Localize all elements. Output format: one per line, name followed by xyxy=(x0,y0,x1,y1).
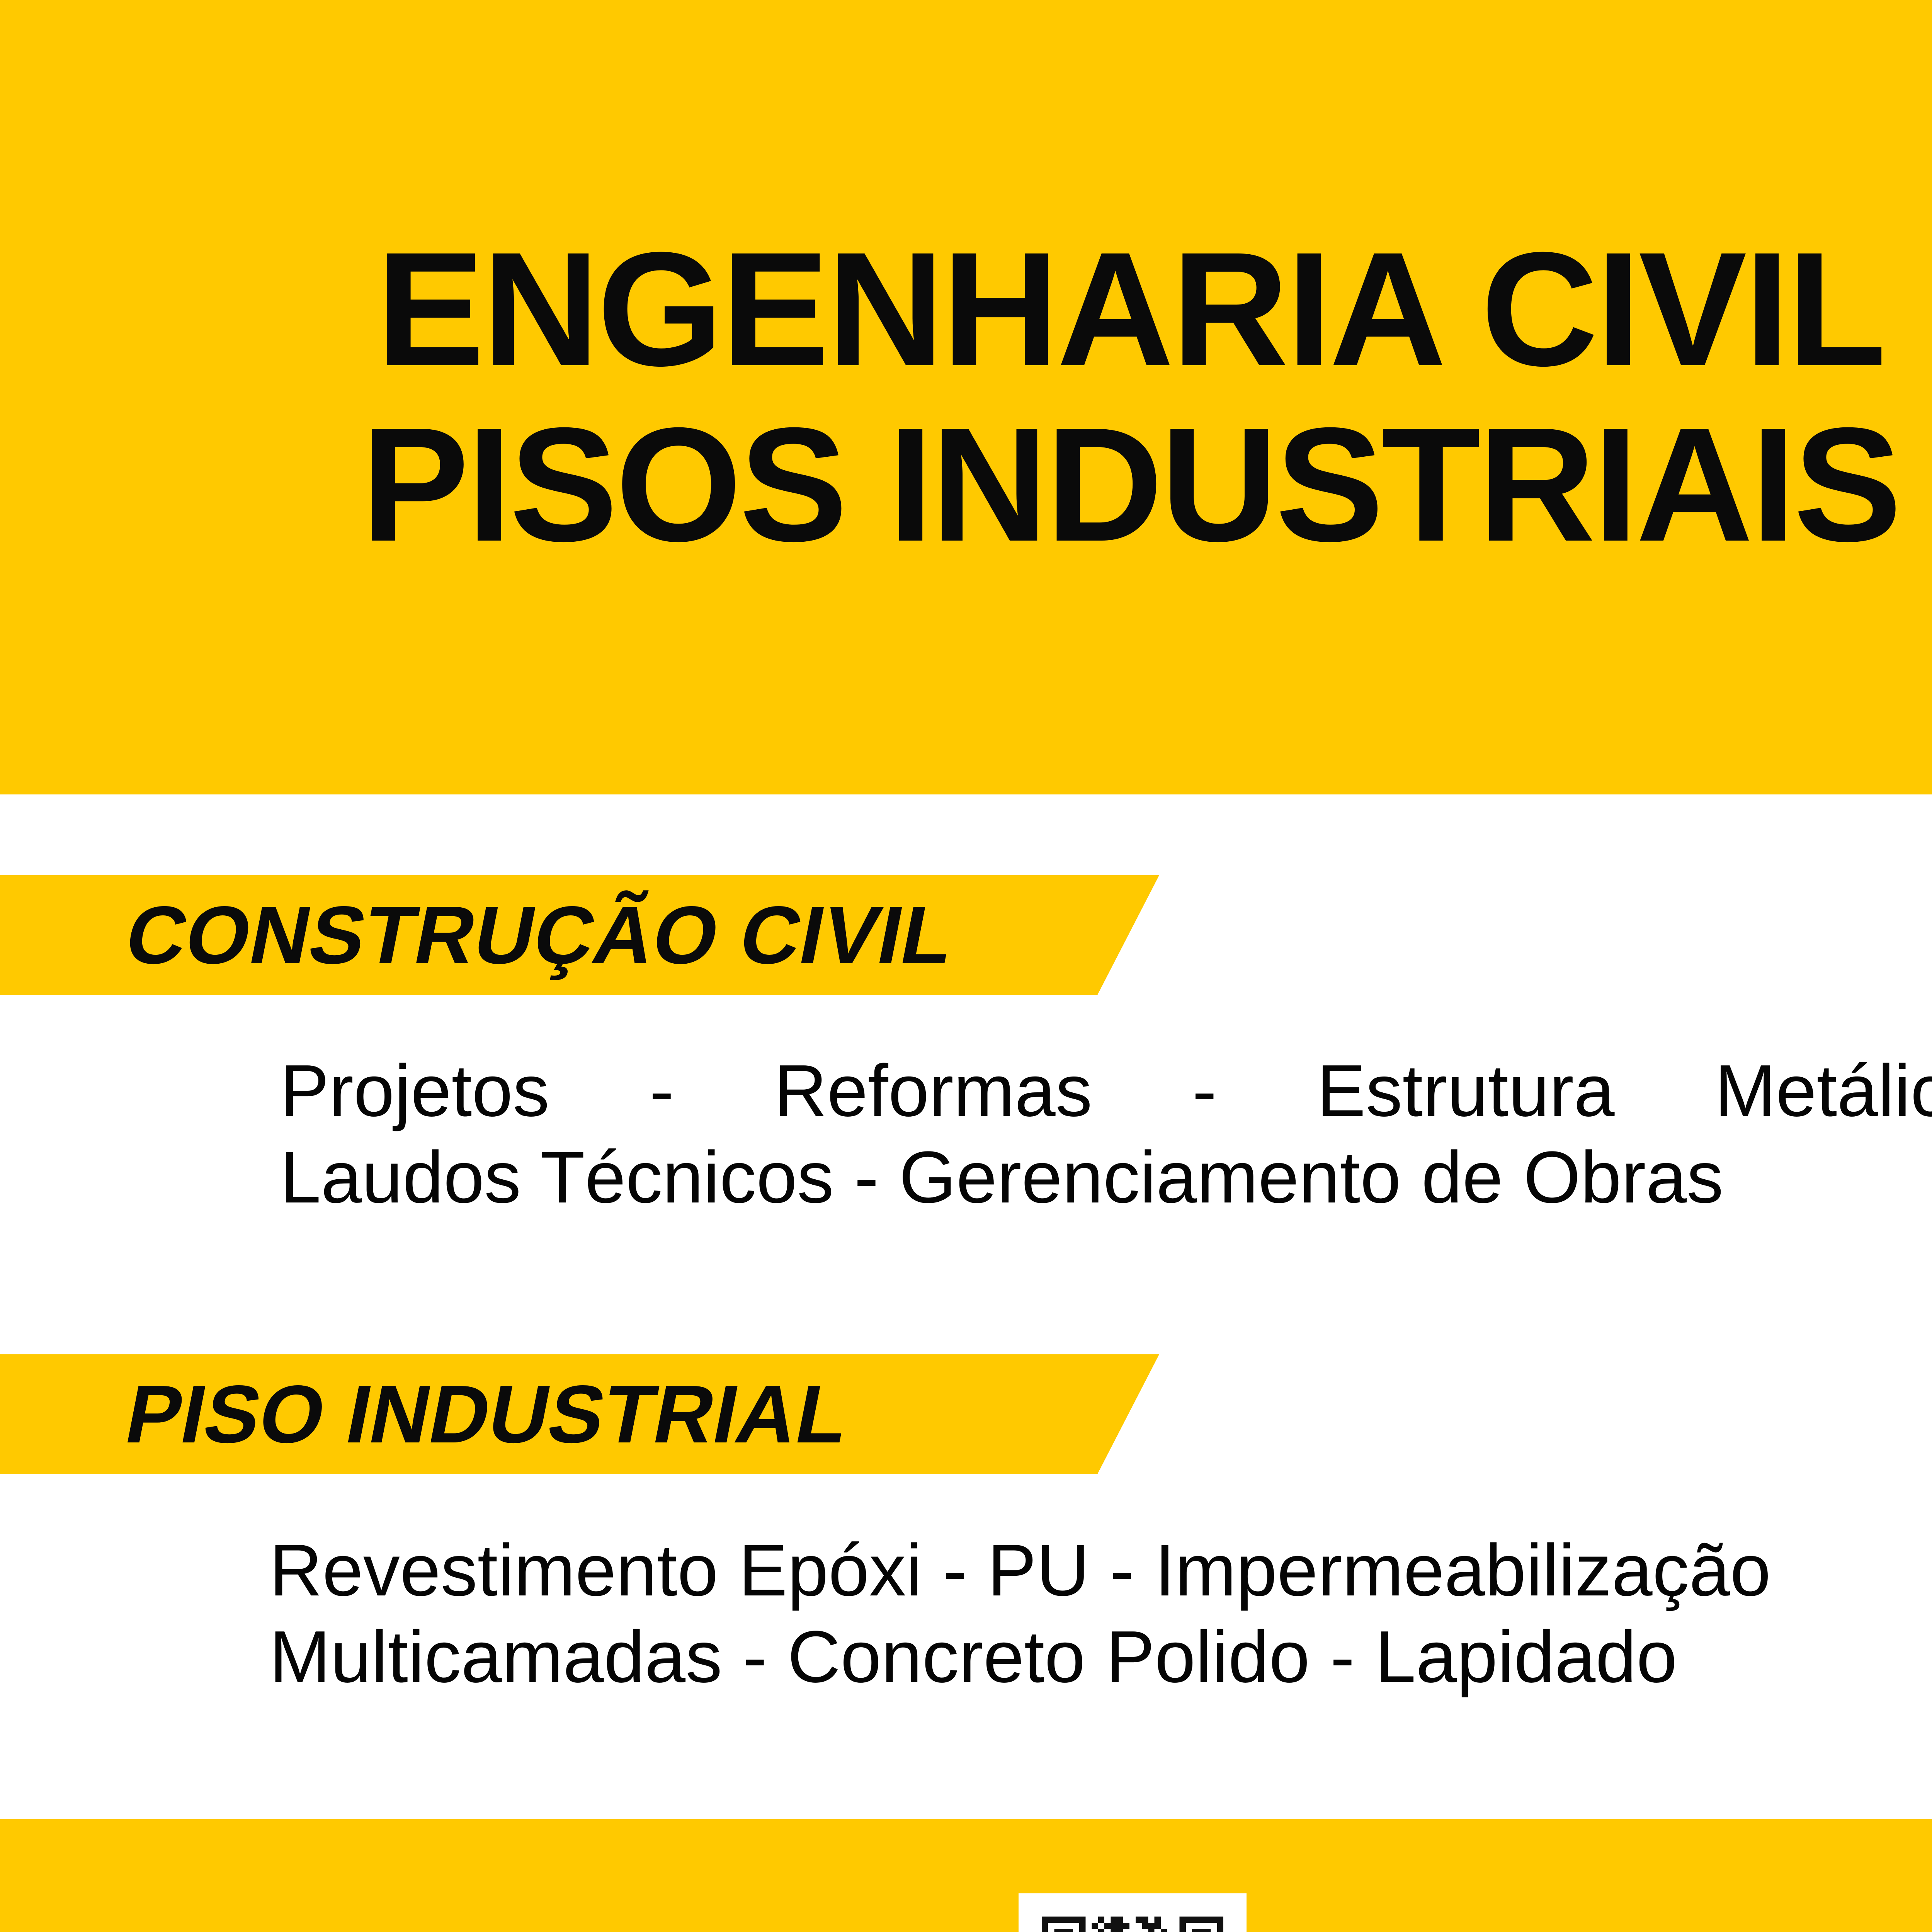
section-banner-piso-industrial: PISO INDUSTRIAL xyxy=(0,1354,1159,1474)
footer-band xyxy=(0,1819,1932,1932)
service-line: Multicamadas - Concreto Polido - Lapidad… xyxy=(269,1614,1932,1700)
title-line-1: ENGENHARIA CIVIL xyxy=(376,222,1884,397)
section-banner-label: CONSTRUÇÃO CIVIL xyxy=(118,888,962,982)
service-list-piso-industrial: Revestimento Epóxi - PU - Impermeabiliza… xyxy=(269,1527,1932,1700)
service-line: Projetos - Reformas - Estrutura Metálica xyxy=(280,1048,1932,1134)
qr-code-icon[interactable] xyxy=(1042,1917,1223,1932)
service-line: Laudos Técnicos - Gerenciamento de Obras xyxy=(280,1134,1932,1221)
section-banner-label: PISO INDUSTRIAL xyxy=(118,1367,857,1461)
service-list-construcao-civil: Projetos - Reformas - Estrutura Metálica… xyxy=(280,1048,1932,1221)
qr-code-card[interactable] xyxy=(1019,1893,1247,1932)
service-line: Revestimento Epóxi - PU - Impermeabiliza… xyxy=(269,1527,1932,1614)
flyer-canvas: ENGENHARIA CIVIL PISOS INDUSTRIAIS CONST… xyxy=(0,0,1932,1932)
services-region: CONSTRUÇÃO CIVIL Projetos - Reformas - E… xyxy=(0,794,1932,1819)
section-banner-construcao-civil: CONSTRUÇÃO CIVIL xyxy=(0,875,1159,995)
title-line-2: PISOS INDUSTRIAIS xyxy=(361,397,1900,573)
page-title: ENGENHARIA CIVIL PISOS INDUSTRIAIS xyxy=(0,0,1932,794)
